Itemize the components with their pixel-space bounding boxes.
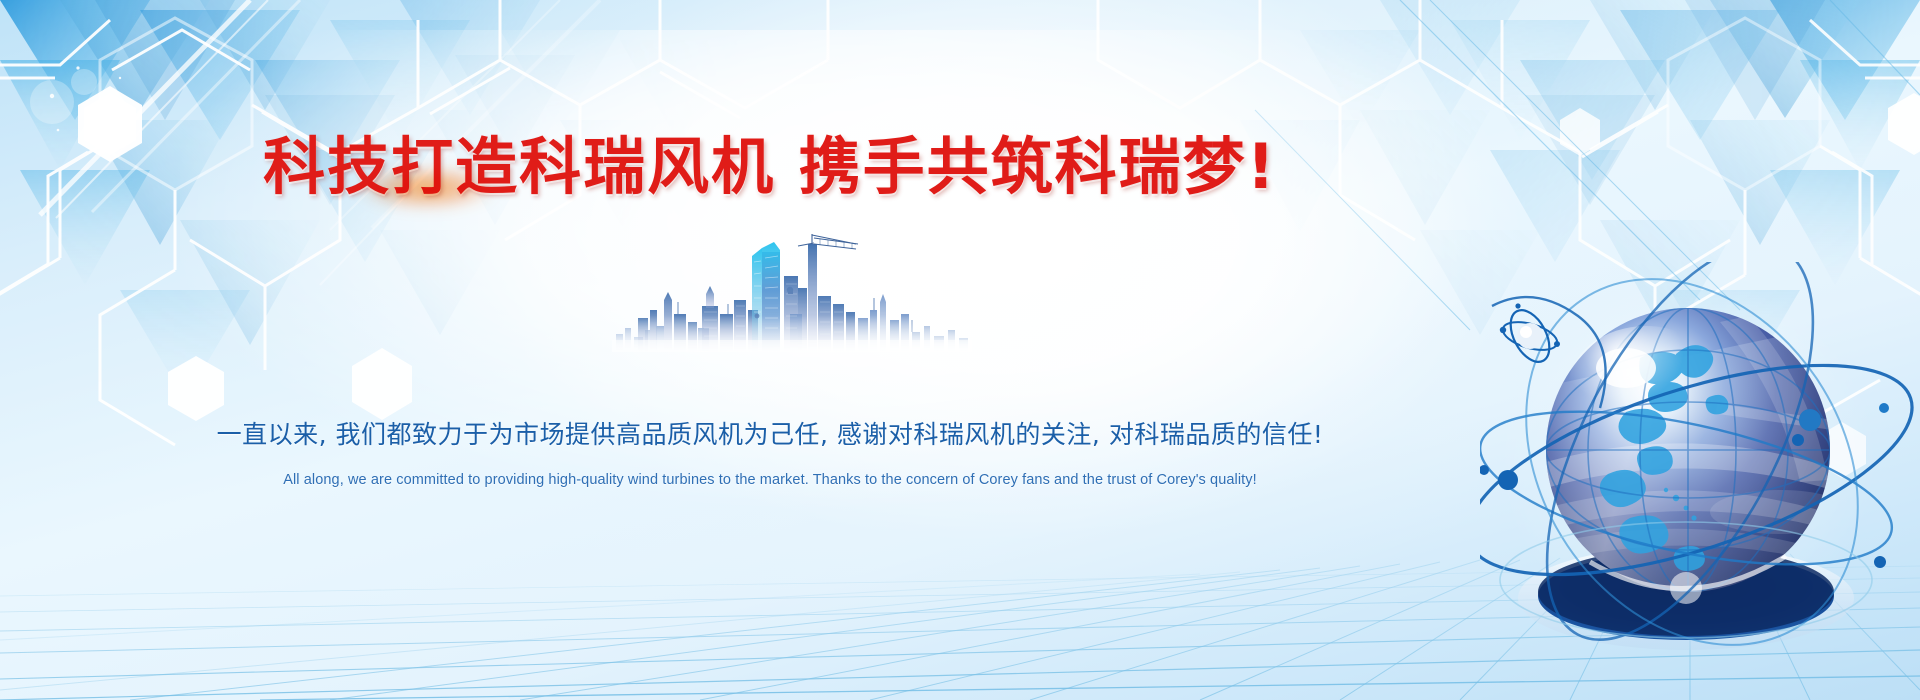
city-skyline [612,222,972,352]
technology-globe [1480,262,1920,682]
promo-banner: 科技打造科瑞风机 携手共筑科瑞梦! 一直以来, 我们都致力于为市场提供高品质风机… [0,0,1920,700]
headline-glow [362,168,492,208]
globe-highlight [1568,326,1724,450]
